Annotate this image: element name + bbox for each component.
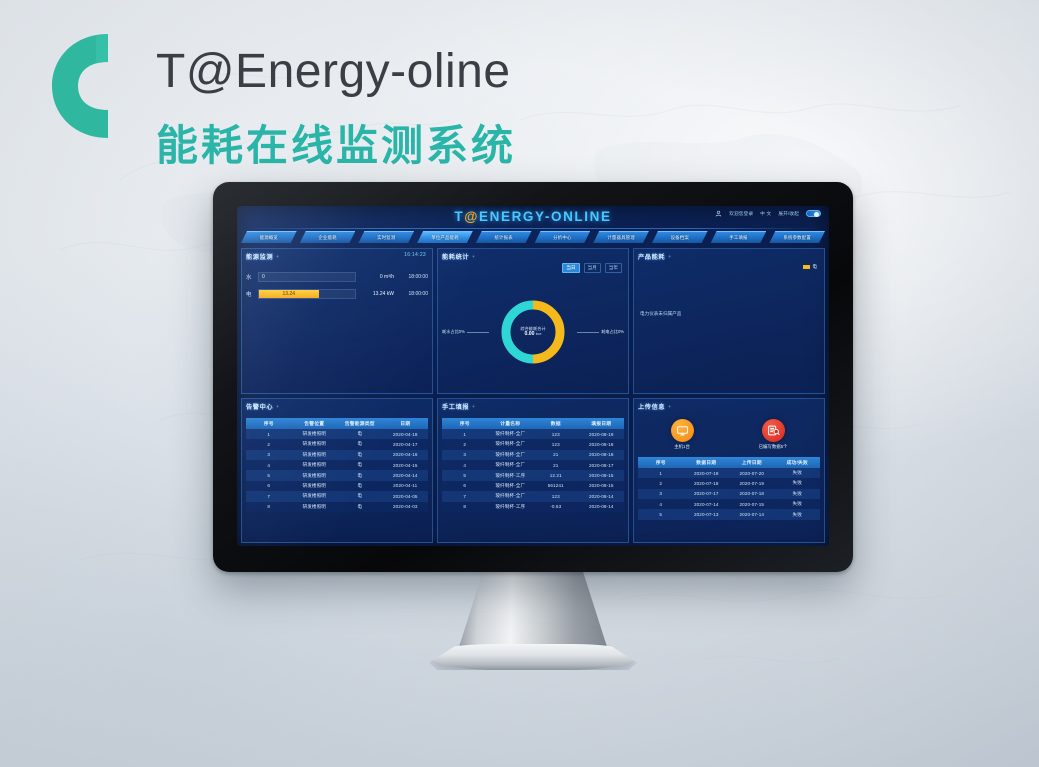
panel-title-product-energy: 产品能耗 + [638,252,820,261]
table-row[interactable]: 7玻纤制杯-全厂1232020-08-14 [442,491,624,501]
table-row[interactable]: 6玻纤制杯-全厂5612412020-08-15 [442,481,624,491]
table-cell-2: 电 [337,429,383,439]
leader-line [577,332,599,333]
product-energy-legend: 电 [803,264,817,270]
app-title-prefix: T [454,209,464,224]
table-cell-1: 2020-07-18 [684,478,730,488]
table-cell-2: 123 [533,491,579,501]
table-cell-2: 21 [533,460,579,470]
table-cell-1: 玻纤制杯-全厂 [488,491,534,501]
table-cell-2: 2020-07-15 [729,499,775,509]
corner-tl [241,398,248,405]
nav-item-0[interactable]: 能源概览 [241,231,297,243]
corner-tr [426,398,433,405]
table-cell-0: 8 [246,502,292,512]
nav-item-label: 能源概览 [260,235,278,241]
nav-item-7[interactable]: 设备档案 [652,231,708,243]
table-cell-1: 玻纤制杯-全厂 [488,460,534,470]
corner-tr [622,248,629,255]
table-body: 1玻纤制杯-全厂1232020-08-192玻纤制杯-全厂1232020-08-… [442,429,624,512]
table-cell-3: 2020-04-03 [383,502,429,512]
donut-center-unit: tce [536,332,542,336]
table-head: 序号计量名称数据填报日期 [442,418,624,429]
table-cell-3: 2020-08-18 [579,439,625,449]
energy-stats-tab-0[interactable]: 当日 [562,263,579,273]
nav-item-label: 统计报表 [494,235,512,241]
language-menu[interactable]: 中 文 [760,211,771,217]
table-col-2: 数据 [533,418,579,429]
table-cell-2: 2020-07-19 [729,478,775,488]
corner-br [818,536,825,543]
table-cell-3: 失败 [775,509,821,519]
legend-label: 电 [812,264,817,270]
panel-title-text: 能耗统计 [442,252,469,261]
upload-stat-data: 已编写数据5个 [759,419,788,450]
table-cell-3: 失败 [775,468,821,478]
table-col-0: 序号 [638,457,684,468]
document-search-icon [762,419,785,442]
monitor-stand-neck [458,570,608,650]
monitor: T@ENERGY-ONLINE 欢迎您登录 中 文 展开/收起 能源概览企业能耗… [213,182,853,572]
table-cell-0: 4 [442,460,488,470]
panel-energy-monitor: 能源监测 + 16:14:23 水00 m³/h18:00:00电13.2413… [241,248,433,394]
table-cell-2: 12.21 [533,470,579,480]
nav-item-2[interactable]: 实时监测 [358,231,414,243]
table-cell-1: 玻纤制杯-工序 [488,470,534,480]
nav-item-5[interactable]: 分析中心 [535,231,591,243]
table-cell-0: 4 [638,499,684,509]
table-row[interactable]: 4研发楼照明电2020-04-15 [246,460,428,470]
energy-monitor-row: 水00 m³/h18:00:00 [246,270,428,283]
table-cell-1: 2020-07-17 [684,489,730,499]
table-cell-0: 1 [442,429,488,439]
toggle-label: 展开/收起 [778,211,799,217]
table-cell-3: 2020-04-17 [383,439,429,449]
upload-stat-data-caption: 已编写数据5个 [759,444,788,450]
table-col-1: 数据日期 [684,457,730,468]
table-cell-2: 2020-07-20 [729,468,775,478]
main-nav: 能源概览企业能耗实时监测单位产品能耗统计报表分析中心计量器具管理设备档案手工填报… [237,231,829,244]
table-row[interactable]: 1玻纤制杯-全厂1232020-08-19 [442,429,624,439]
energy-row-zero: 0 [262,274,265,280]
energy-stats-tab-1[interactable]: 当月 [584,263,601,273]
table-row[interactable]: 2研发楼照明电2020-04-17 [246,439,428,449]
table-cell-3: 失败 [775,478,821,488]
corner-bl [241,387,248,394]
legend-swatch [803,265,810,269]
nav-item-label: 企业能耗 [318,235,336,241]
upload-info-table: 序号数据日期上传日期成功/失败 12020-07-192020-07-20失败2… [638,457,820,520]
donut-leader-right-text: 耗电占比0% [601,329,624,335]
table-cell-3: 2020-04-18 [383,429,429,439]
table-cell-2: 561241 [533,481,579,491]
table-row[interactable]: 1研发楼照明电2020-04-18 [246,429,428,439]
monitor-stand-base [429,644,637,670]
table-cell-1: 研发楼照明 [292,502,338,512]
table-row[interactable]: 2玻纤制杯-全厂1232020-08-18 [442,439,624,449]
nav-item-3[interactable]: 单位产品能耗 [417,231,473,243]
table-col-2: 告警能源类型 [337,418,383,429]
table-cell-1: 2020-07-19 [684,468,730,478]
table-cell-0: 6 [442,481,488,491]
table-row[interactable]: 12020-07-192020-07-20失败 [638,468,820,478]
corner-tr [426,248,433,255]
table-cell-2: 123 [533,439,579,449]
table-row[interactable]: 22020-07-182020-07-19失败 [638,478,820,488]
table-head: 序号告警位置告警能源类型日期 [246,418,428,429]
table-cell-3: 2020-04-05 [383,491,429,501]
table-header-row: 序号告警位置告警能源类型日期 [246,418,428,429]
table-cell-2: 123 [533,429,579,439]
app-title-at: @ [464,209,479,224]
table-row[interactable]: 4玻纤制杯-全厂212020-08-17 [442,460,624,470]
table-cell-1: 玻纤制杯-工序 [488,502,534,512]
donut-center-value: 0.00 tce [502,331,564,338]
energy-monitor-rows: 水00 m³/h18:00:00电13.2413.24 kW18:00:00 [246,270,428,300]
table-cell-1: 2020-07-13 [684,509,730,519]
corner-tr [818,248,825,255]
energy-row-value: 0 m³/h [356,274,394,280]
energy-row-bar-track: 13.24 [258,289,356,299]
table-cell-1: 研发楼照明 [292,481,338,491]
nav-item-8[interactable]: 手工填报 [711,231,767,243]
panel-title-text: 能源监测 [246,252,273,261]
energy-monitor-row: 电13.2413.24 kW18:00:00 [246,287,428,300]
table-cell-3: 2020-04-11 [383,481,429,491]
table-cell-0: 4 [246,460,292,470]
table-cell-1: 玻纤制杯-全厂 [488,481,534,491]
energy-row-name: 电 [246,290,258,298]
table-col-3: 日期 [383,418,429,429]
corner-tr [622,398,629,405]
panel-product-energy: 产品能耗 + 电 电力仪表未归属产品 [633,248,825,394]
manual-entry-table: 序号计量名称数据填报日期 1玻纤制杯-全厂1232020-08-192玻纤制杯-… [442,418,624,512]
nav-item-6[interactable]: 计量器具管理 [593,231,649,243]
table-cell-3: 2020-08-18 [579,450,625,460]
table-cell-0: 3 [442,450,488,460]
nav-item-label: 手工填报 [729,235,747,241]
table-header-row: 序号数据日期上传日期成功/失败 [638,457,820,468]
table-row[interactable]: 8研发楼照明电2020-04-03 [246,502,428,512]
panel-title-energy-stats: 能耗统计 + [442,252,624,261]
panel-toggle-switch[interactable] [806,210,821,217]
table-col-3: 填报日期 [579,418,625,429]
table-cell-1: 研发楼照明 [292,439,338,449]
table-row[interactable]: 32020-07-172020-07-18失败 [638,489,820,499]
table-cell-3: 2020-08-14 [579,491,625,501]
table-row[interactable]: 52020-07-132020-07-14失败 [638,509,820,519]
panel-title-text: 告警中心 [246,402,273,411]
table-cell-2: 21 [533,450,579,460]
table-row[interactable]: 5研发楼照明电2020-04-14 [246,470,428,480]
nav-row: 能源概览企业能耗实时监测单位产品能耗统计报表分析中心计量器具管理设备档案手工填报… [241,231,825,243]
monitor-bezel: T@ENERGY-ONLINE 欢迎您登录 中 文 展开/收起 能源概览企业能耗… [213,182,853,572]
c-logo-icon [48,26,120,146]
computer-icon [671,419,694,442]
upload-stat-host: 主机1台 [671,419,694,450]
panel-manual-entry: 手工填报 + 序号计量名称数据填报日期 1玻纤制杯-全厂1232020-08-1… [437,398,629,544]
panel-energy-stats: 能耗统计 + 当日当月当年 综合能耗合计 0.00 tce 耗水占比0% [437,248,629,394]
table-cell-3: 失败 [775,489,821,499]
app-title: T@ENERGY-ONLINE [454,209,611,224]
upload-stat-host-caption: 主机1台 [671,444,694,450]
table-body: 12020-07-192020-07-20失败22020-07-182020-0… [638,468,820,520]
panel-title-text: 手工填报 [442,402,469,411]
corner-br [622,536,629,543]
corner-tl [633,398,640,405]
energy-row-value: 13.24 kW [356,291,394,297]
table-cell-3: 2020-04-14 [383,470,429,480]
table-cell-2: -0.53 [533,502,579,512]
panel-title-upload-info: 上传信息 + [638,402,820,411]
alarm-center-table: 序号告警位置告警能源类型日期 1研发楼照明电2020-04-182研发楼照明电2… [246,418,428,512]
user-icon[interactable] [715,210,722,217]
table-row[interactable]: 7研发楼照明电2020-04-05 [246,491,428,501]
table-col-1: 计量名称 [488,418,534,429]
table-cell-1: 2020-07-14 [684,499,730,509]
corner-tl [437,398,444,405]
table-cell-0: 2 [442,439,488,449]
expand-icon[interactable]: + [668,404,671,409]
table-col-2: 上传日期 [729,457,775,468]
nav-item-4[interactable]: 统计报表 [476,231,532,243]
corner-tl [241,248,248,255]
brand-subtitle: 能耗在线监测系统 [156,112,516,173]
table-cell-0: 1 [246,429,292,439]
table-cell-1: 研发楼照明 [292,460,338,470]
donut-chart-wrap: 综合能耗合计 0.00 tce 耗水占比0% 耗电占比0% [438,275,628,389]
table-cell-3: 2020-08-19 [579,429,625,439]
corner-br [818,387,825,394]
corner-bl [241,536,248,543]
header-divider [245,228,821,229]
table-cell-1: 研发楼照明 [292,429,338,439]
table-cell-0: 2 [638,478,684,488]
table-cell-3: 2020-08-17 [579,460,625,470]
table-cell-2: 电 [337,470,383,480]
table-cell-2: 电 [337,460,383,470]
table-cell-0: 6 [246,481,292,491]
table-row[interactable]: 6研发楼照明电2020-04-11 [246,481,428,491]
panel-title-manual-entry: 手工填报 + [442,402,624,411]
table-cell-3: 2020-08-14 [579,502,625,512]
energy-row-bar-text: 13.24 [282,291,295,297]
corner-br [426,536,433,543]
table-cell-1: 玻纤制杯-全厂 [488,439,534,449]
table-cell-0: 1 [638,468,684,478]
expand-icon[interactable]: + [276,404,279,409]
leader-line [467,332,489,333]
table-cell-2: 电 [337,502,383,512]
table-head: 序号数据日期上传日期成功/失败 [638,457,820,468]
table-col-0: 序号 [442,418,488,429]
table-row[interactable]: 3玻纤制杯-全厂212020-08-18 [442,450,624,460]
table-cell-3: 失败 [775,499,821,509]
nav-item-label: 分析中心 [553,235,571,241]
table-row[interactable]: 3研发楼照明电2020-04-16 [246,450,428,460]
panel-title-text: 上传信息 [638,402,665,411]
table-row[interactable]: 42020-07-142020-07-15失败 [638,499,820,509]
table-cell-0: 5 [246,470,292,480]
panel-upload-info: 上传信息 + 主机1台 [633,398,825,544]
app-header-right: 欢迎您登录 中 文 展开/收起 [715,210,821,217]
panel-title-alarm-center: 告警中心 + [246,402,428,411]
corner-bl [633,536,640,543]
nav-item-label: 设备档案 [671,235,689,241]
nav-item-1[interactable]: 企业能耗 [300,231,356,243]
table-cell-0: 3 [246,450,292,460]
app-header: T@ENERGY-ONLINE 欢迎您登录 中 文 展开/收起 [237,206,829,230]
table-cell-1: 研发楼照明 [292,491,338,501]
table-cell-0: 7 [442,491,488,501]
donut-leader-left: 耗水占比0% [442,329,489,335]
dashboard-grid: 能源监测 + 16:14:23 水00 m³/h18:00:00电13.2413… [241,248,825,543]
table-cell-2: 电 [337,439,383,449]
table-cell-0: 7 [246,491,292,501]
energy-monitor-clock: 16:14:23 [404,252,426,258]
panel-title-text: 产品能耗 [638,252,665,261]
table-col-1: 告警位置 [292,418,338,429]
table-header-row: 序号计量名称数据填报日期 [442,418,624,429]
corner-bl [633,387,640,394]
nav-item-9[interactable]: 系统参数配置 [769,231,825,243]
table-cell-0: 2 [246,439,292,449]
energy-row-bar-fill: 13.24 [259,290,319,298]
table-cell-2: 2020-07-18 [729,489,775,499]
app-title-rest: ENERGY-ONLINE [479,209,612,224]
nav-item-label: 单位产品能耗 [431,235,459,241]
table-cell-3: 2020-04-16 [383,450,429,460]
table-col-0: 序号 [246,418,292,429]
energy-row-time: 18:00:00 [394,274,428,280]
monitor-screen: T@ENERGY-ONLINE 欢迎您登录 中 文 展开/收起 能源概览企业能耗… [237,206,829,546]
donut-leader-right: 耗电占比0% [577,329,624,335]
corner-br [426,387,433,394]
energy-stats-tab-2[interactable]: 当年 [605,263,622,273]
expand-icon[interactable]: + [472,254,475,259]
table-cell-1: 研发楼照明 [292,450,338,460]
table-row[interactable]: 5玻纤制杯-工序12.212020-08-15 [442,470,624,480]
nav-item-label: 计量器具管理 [607,235,635,241]
table-cell-2: 电 [337,491,383,501]
table-cell-0: 5 [442,470,488,480]
energy-row-bar-track: 0 [258,272,356,282]
table-cell-3: 2020-08-15 [579,481,625,491]
table-cell-1: 玻纤制杯-全厂 [488,429,534,439]
table-cell-2: 电 [337,481,383,491]
table-cell-0: 8 [442,502,488,512]
corner-bl [437,536,444,543]
donut-leader-left-text: 耗水占比0% [442,329,465,335]
energy-row-time: 18:00:00 [394,291,428,297]
table-cell-3: 2020-08-15 [579,470,625,480]
nav-item-label: 系统参数配置 [783,235,811,241]
table-cell-2: 电 [337,450,383,460]
energy-row-name: 水 [246,273,258,281]
product-energy-note: 电力仪表未归属产品 [640,311,681,317]
table-cell-1: 研发楼照明 [292,470,338,480]
nav-item-label: 实时监测 [377,235,395,241]
table-row[interactable]: 8玻纤制杯-工序-0.532020-08-14 [442,502,624,512]
table-cell-0: 3 [638,489,684,499]
brand-header: T@Energy-oline 能耗在线监测系统 [48,24,608,154]
upload-info-stats: 主机1台 已编写数据5个 [638,419,820,450]
table-cell-2: 2020-07-14 [729,509,775,519]
expand-icon[interactable]: + [276,254,279,259]
table-col-3: 成功/失败 [775,457,821,468]
donut-center-label: 综合能耗合计 0.00 tce [502,326,564,338]
brand-title: T@Energy-oline [156,44,511,99]
table-cell-0: 5 [638,509,684,519]
corner-tl [437,248,444,255]
table-cell-3: 2020-04-15 [383,460,429,470]
expand-icon[interactable]: + [668,254,671,259]
corner-tr [818,398,825,405]
expand-icon[interactable]: + [472,404,475,409]
panel-alarm-center: 告警中心 + 序号告警位置告警能源类型日期 1研发楼照明电2020-04-182… [241,398,433,544]
username-label[interactable]: 欢迎您登录 [729,211,753,217]
table-cell-1: 玻纤制杯-全厂 [488,450,534,460]
table-body: 1研发楼照明电2020-04-182研发楼照明电2020-04-173研发楼照明… [246,429,428,512]
corner-tl [633,248,640,255]
panel-title-energy-monitor: 能源监测 + [246,252,428,261]
energy-stats-tabs: 当日当月当年 [562,263,622,273]
